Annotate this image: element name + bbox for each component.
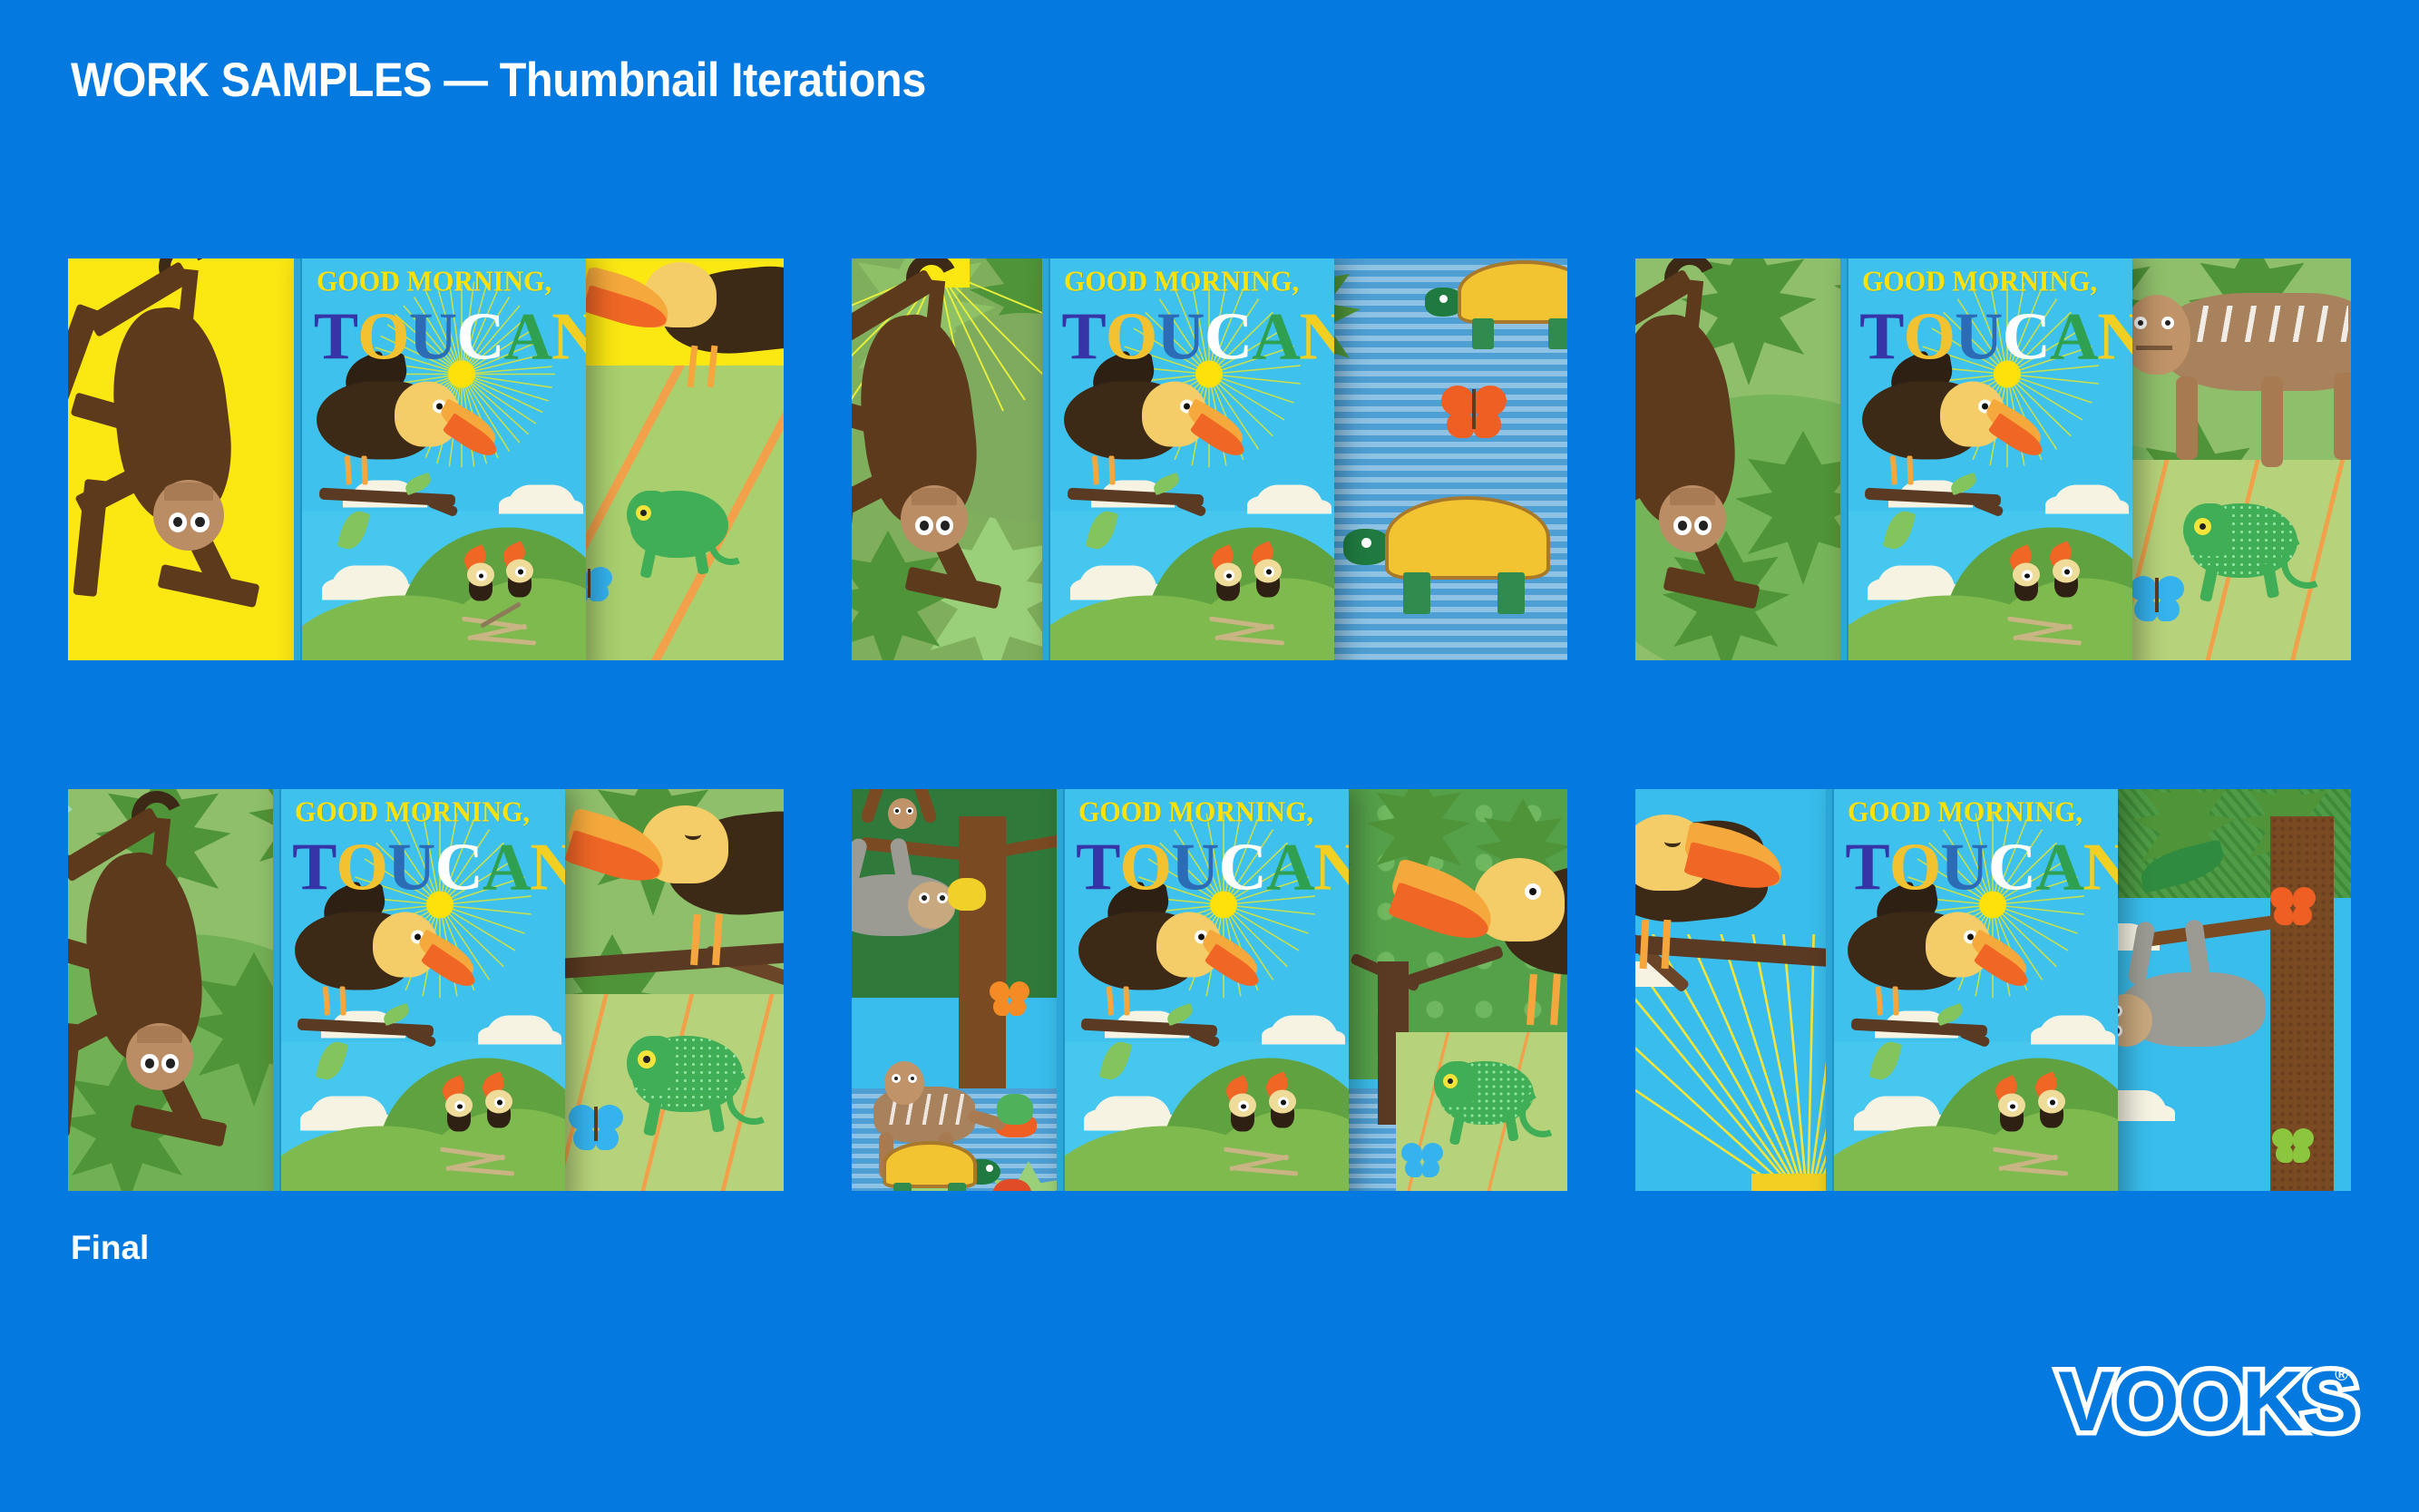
- book-cover-1[interactable]: GOOD MORNING, TOUCAN: [294, 259, 586, 660]
- monkey-eye-left: [169, 512, 187, 532]
- cover-title-line1: GOOD MORNING,: [1848, 796, 2093, 825]
- monkey-eye-left: [915, 516, 932, 535]
- chick-right: [501, 544, 546, 599]
- tortoise-shell: [1458, 260, 1567, 324]
- monkey-leg-3: [2334, 373, 2351, 460]
- book-cover-4[interactable]: GOOD MORNING, TOUCAN: [273, 789, 565, 1191]
- tortoise-leg: [893, 1183, 912, 1191]
- cover-letter-U: U: [1171, 837, 1218, 899]
- monkey-brow: [164, 483, 212, 501]
- butterfly-wing-lower-left: [2134, 598, 2157, 621]
- cover-letter-A: A: [2050, 307, 2097, 368]
- cover-letter-O: O: [1106, 307, 1157, 368]
- cover-title-line1: GOOD MORNING,: [295, 796, 541, 825]
- chameleon-leg-front: [1449, 1113, 1466, 1146]
- cover-toucan: [1842, 893, 2051, 1038]
- tortoise-eye: [1361, 538, 1371, 548]
- toucan-leg-right: [1907, 456, 1913, 485]
- chameleon: [623, 1018, 784, 1190]
- chick-left: [1224, 1079, 1269, 1134]
- thumbnail-2[interactable]: GOOD MORNING, TOUCAN: [852, 259, 1567, 660]
- toucan-leg-right: [712, 914, 723, 965]
- tortoise-eye: [986, 1165, 993, 1172]
- green-butterfly: [2272, 1128, 2316, 1166]
- orange-butterfly: [990, 981, 1031, 1019]
- toucan-beak-art: [590, 259, 784, 411]
- thumb-5-scene: GOOD MORNING, TOUCAN: [852, 789, 1567, 1191]
- thumbnail-1[interactable]: GOOD MORNING, TOUCAN: [68, 259, 784, 660]
- tortoise-eye: [1439, 295, 1448, 303]
- book-front: GOOD MORNING, TOUCAN: [1065, 789, 1349, 1191]
- cover-letter-T: T: [314, 307, 357, 368]
- sun-block: [1751, 1174, 1828, 1191]
- walking-monkey: [2107, 286, 2351, 476]
- cover-letter-A: A: [1266, 837, 1313, 899]
- book-front: GOOD MORNING, TOUCAN: [1848, 259, 2132, 660]
- cover-letter-C: C: [2003, 307, 2050, 368]
- toucan-leg-right: [1123, 987, 1129, 1016]
- chick-right: [2047, 544, 2092, 599]
- toucan-leg-left: [323, 986, 330, 1015]
- sloth: [2114, 925, 2305, 1097]
- toucan-leg-left: [345, 455, 352, 484]
- cover-toucan: [1073, 893, 1282, 1038]
- cover-letter-U: U: [409, 307, 456, 368]
- tortoise-leg: [1497, 572, 1525, 614]
- cover-letter-C: C: [456, 307, 503, 368]
- monkey-eye-right: [906, 807, 913, 815]
- monkey-arm: [912, 789, 938, 824]
- toucan-leg-right: [1550, 974, 1561, 1025]
- cover-toucan: [289, 893, 498, 1038]
- butterfly-wing-lower-left: [573, 1127, 596, 1150]
- vooks-wordmark: VOOKS: [2058, 1352, 2357, 1450]
- blue-butterfly: [1401, 1143, 1445, 1183]
- toucan-leg-right: [1662, 920, 1672, 969]
- monkey-brow: [137, 1026, 182, 1043]
- toucan-leg-left: [1092, 455, 1099, 484]
- butterfly-wing-lower-right: [2293, 1145, 2310, 1163]
- toucan-eye-closed: [685, 829, 701, 840]
- cloud-3: [309, 1097, 387, 1131]
- book-spine: [1826, 789, 1834, 1191]
- yellow-frog: [948, 878, 986, 911]
- cover-title-line1: GOOD MORNING,: [1064, 266, 1310, 295]
- butterfly-wing-lower-right: [596, 1127, 619, 1150]
- monkey-eye-right: [936, 516, 953, 535]
- thumbnail-3[interactable]: GOOD MORNING, TOUCAN: [1635, 259, 2351, 660]
- butterfly-body: [2155, 578, 2159, 612]
- book-cover-5[interactable]: GOOD MORNING, TOUCAN: [1057, 789, 1349, 1191]
- butterfly-body: [1472, 389, 1476, 429]
- cover-letter-N: N: [551, 307, 586, 368]
- cover-letter-N: N: [2097, 307, 2131, 368]
- cover-letter-C: C: [1219, 837, 1266, 899]
- tortoise-leg: [1403, 572, 1430, 614]
- big-toucan: [576, 798, 784, 980]
- chick-left: [462, 549, 507, 603]
- monkey-leg-1: [2176, 376, 2198, 460]
- monkey-fur-pattern: [2194, 306, 2348, 342]
- monkey-face: [126, 1023, 193, 1090]
- cloud-3: [1093, 1097, 1171, 1131]
- cloud-3: [1877, 566, 1955, 600]
- tortoise: [879, 1139, 1006, 1191]
- cloud-3: [1078, 566, 1156, 600]
- monkey-head: [888, 798, 917, 829]
- butterfly-wing-lower-left: [2276, 1145, 2293, 1163]
- book-front: GOOD MORNING, TOUCAN: [302, 259, 586, 660]
- chick-left: [2007, 549, 2053, 603]
- book-spine: [294, 259, 302, 660]
- sloth-eye-right: [937, 893, 948, 903]
- registered-trademark-icon: ®: [2335, 1365, 2348, 1386]
- monkey-eye-right: [2161, 317, 2174, 329]
- green-frog: [997, 1094, 1033, 1125]
- chick-right: [1263, 1075, 1309, 1129]
- book-spine: [1840, 259, 1848, 660]
- toucan-eye-closed: [1664, 836, 1681, 847]
- toucan-leg-left: [1527, 974, 1537, 1025]
- book-spine: [1042, 259, 1050, 660]
- chameleon: [1432, 1047, 1567, 1191]
- cover-letter-N: N: [2083, 837, 2118, 899]
- toucan-leg-right: [361, 456, 367, 485]
- toucan-leg-right: [339, 987, 346, 1016]
- chick-left: [1993, 1079, 2038, 1134]
- cloud-3: [331, 566, 409, 600]
- blue-butterfly: [569, 1105, 625, 1156]
- thumbnail-6[interactable]: GOOD MORNING, TOUCAN: [1635, 789, 2351, 1191]
- cloud-3: [1862, 1097, 1940, 1131]
- monkey-mouth: [2136, 346, 2172, 350]
- butterfly-wing-lower-right: [2293, 905, 2312, 925]
- cover-title-line1: GOOD MORNING,: [317, 266, 562, 295]
- cover-letter-N: N: [1313, 837, 1348, 899]
- butterfly-wing-lower-left: [1405, 1159, 1422, 1177]
- toucan-leg-left: [1640, 920, 1650, 969]
- orange-butterfly: [2270, 887, 2317, 929]
- sloth: [852, 844, 991, 980]
- monkey-eye-left: [141, 1054, 158, 1073]
- cover-title-line2: TOUCAN: [292, 837, 559, 899]
- cover-letter-O: O: [1903, 307, 1955, 368]
- toucan-leg-left: [1876, 986, 1883, 1015]
- monkey-eye-right: [908, 1074, 917, 1083]
- tortoise-top: [1438, 259, 1567, 355]
- cover-toucan: [311, 362, 520, 507]
- monkey-eye-right: [161, 1054, 179, 1073]
- thumb-2-scene: GOOD MORNING, TOUCAN: [852, 259, 1567, 660]
- butterfly-wing-lower-left: [993, 998, 1010, 1016]
- chick-left: [1209, 549, 1254, 603]
- chameleon-eye: [636, 505, 651, 521]
- book-front: GOOD MORNING, TOUCAN: [1834, 789, 2118, 1191]
- butterfly-wing-lower-right: [2157, 598, 2180, 621]
- thumb-6-scene: GOOD MORNING, TOUCAN: [1635, 789, 2351, 1191]
- orange-butterfly: [1441, 385, 1508, 445]
- chick-right: [480, 1075, 525, 1129]
- monkey-face: [1659, 485, 1726, 552]
- chameleon-eye: [638, 1050, 656, 1068]
- cover-letter-C: C: [435, 837, 483, 899]
- butterfly-wing-lower-right: [1010, 998, 1026, 1016]
- cover-title-line2: TOUCAN: [1061, 307, 1328, 368]
- monkey-leg-left-lower: [68, 1022, 81, 1136]
- page-title: WORK SAMPLES — Thumbnail Iterations: [71, 53, 926, 108]
- cover-title-line2: TOUCAN: [314, 307, 580, 368]
- cover-letter-O: O: [1889, 837, 1941, 899]
- chameleon-leg-front: [639, 544, 657, 579]
- chameleon: [2180, 485, 2351, 658]
- monkey-eye-right: [1694, 516, 1712, 535]
- chameleon-leg-front: [643, 1098, 662, 1136]
- thumb-3-scene: GOOD MORNING, TOUCAN: [1635, 259, 2351, 660]
- cover-letter-T: T: [292, 837, 336, 899]
- cover-letter-C: C: [1988, 837, 2035, 899]
- toucan-eye: [1525, 883, 1541, 900]
- tortoise-leg: [1548, 318, 1567, 349]
- big-toucan: [1387, 847, 1567, 1047]
- cover-letter-U: U: [387, 837, 434, 899]
- monkey-leg-2: [2261, 376, 2283, 467]
- blue-butterfly: [2130, 576, 2186, 627]
- toucan-leg-left: [690, 914, 701, 965]
- monkey-face: [153, 480, 224, 551]
- toucan-leg-left: [1890, 455, 1897, 484]
- cover-toucan: [1857, 362, 2065, 507]
- small-hanging-monkey: [866, 789, 966, 862]
- chameleon-leg-front: [2200, 564, 2219, 602]
- monkey-head: [884, 1061, 924, 1105]
- toucan-leg-left: [1107, 986, 1114, 1015]
- butterfly-wing-lower-left: [2274, 905, 2293, 925]
- monkey-head: [2123, 295, 2190, 375]
- cover-title-line2: TOUCAN: [1859, 307, 2126, 368]
- chameleon: [612, 469, 766, 623]
- book-spine: [273, 789, 281, 1191]
- monkey-eye-left: [892, 1074, 901, 1083]
- butterfly-body: [588, 569, 590, 598]
- monkey-face: [901, 485, 968, 552]
- cover-letter-T: T: [1845, 837, 1888, 899]
- cover-letter-N: N: [530, 837, 564, 899]
- tortoise-leg: [1472, 318, 1494, 349]
- cover-letter-C: C: [1205, 307, 1252, 368]
- monkey-eye-left: [1673, 516, 1691, 535]
- cover-title-line1: GOOD MORNING,: [1078, 796, 1324, 825]
- cover-letter-O: O: [1119, 837, 1171, 899]
- sloth-eye-left: [919, 893, 930, 903]
- cover-letter-A: A: [1252, 307, 1299, 368]
- book-cover-6[interactable]: GOOD MORNING, TOUCAN: [1826, 789, 2118, 1191]
- chick-left: [440, 1079, 485, 1134]
- chick-right: [2033, 1075, 2078, 1129]
- butterfly-wing-lower-right: [1422, 1159, 1439, 1177]
- thumbnail-5[interactable]: GOOD MORNING, TOUCAN: [852, 789, 1567, 1191]
- butterfly-wing-lower-left: [1447, 411, 1474, 438]
- butterfly-body: [594, 1107, 598, 1141]
- cover-letter-U: U: [1955, 307, 2002, 368]
- butterfly-wing-lower-right: [1474, 411, 1501, 438]
- tortoise-bottom: [1360, 493, 1559, 629]
- butterfly-wing-lower-right: [589, 583, 609, 601]
- thumb-4-scene: GOOD MORNING, TOUCAN: [68, 789, 784, 1191]
- cover-letter-A: A: [504, 307, 551, 368]
- chameleon-eye: [1443, 1074, 1458, 1088]
- cover-letter-T: T: [1076, 837, 1119, 899]
- book-front: GOOD MORNING, TOUCAN: [1050, 259, 1334, 660]
- cover-letter-O: O: [336, 837, 387, 899]
- chick-right: [1249, 544, 1294, 599]
- cover-letter-T: T: [1859, 307, 1903, 368]
- thumb-1-scene: GOOD MORNING, TOUCAN: [68, 259, 784, 660]
- cover-letter-U: U: [1156, 307, 1204, 368]
- chameleon-eye: [2194, 518, 2211, 535]
- monkey-brow: [912, 488, 957, 505]
- cover-letter-A: A: [2035, 837, 2082, 899]
- cover-letter-A: A: [483, 837, 530, 899]
- book-cover-3[interactable]: GOOD MORNING, TOUCAN: [1840, 259, 2132, 660]
- final-label: Final: [71, 1229, 149, 1267]
- cover-title-line2: TOUCAN: [1845, 837, 2112, 899]
- thumbnail-4-final[interactable]: GOOD MORNING, TOUCAN: [68, 789, 784, 1191]
- cover-toucan: [1058, 362, 1267, 507]
- cover-letter-U: U: [1940, 837, 1987, 899]
- tortoise-shell: [883, 1141, 977, 1188]
- thumbnail-grid: GOOD MORNING, TOUCAN: [68, 259, 2351, 1191]
- tortoise-shell: [1385, 496, 1550, 580]
- cover-title-line1: GOOD MORNING,: [1862, 266, 2108, 295]
- toucan-leg-right: [1109, 456, 1116, 485]
- monkey-eye-right: [190, 512, 209, 532]
- tortoise-leg: [948, 1183, 966, 1191]
- hanging-monkey: [1635, 259, 1866, 658]
- monkey-brow: [1670, 488, 1715, 505]
- cover-letter-N: N: [1300, 307, 1334, 368]
- book-front: GOOD MORNING, TOUCAN: [281, 789, 565, 1191]
- toucan-on-branch: [1635, 807, 1793, 980]
- monkey-eye-left: [2134, 317, 2147, 329]
- vooks-logo: VOOKS ®: [2058, 1363, 2341, 1454]
- book-cover-2[interactable]: GOOD MORNING, TOUCAN: [1042, 259, 1334, 660]
- cover-letter-T: T: [1061, 307, 1105, 368]
- monkey-eye-left: [893, 807, 901, 815]
- cover-letter-O: O: [357, 307, 409, 368]
- cover-title-line2: TOUCAN: [1076, 837, 1342, 899]
- toucan-leg-left: [688, 346, 698, 387]
- book-spine: [1057, 789, 1065, 1191]
- toucan-leg-right: [1893, 987, 1899, 1016]
